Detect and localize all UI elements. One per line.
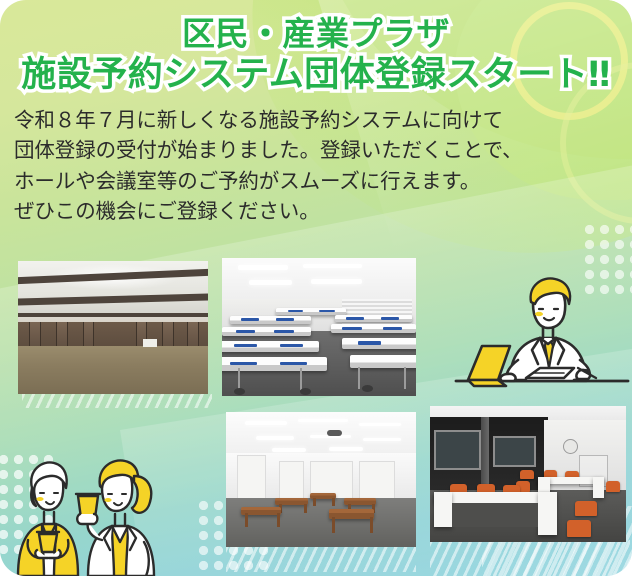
photo-training-room	[222, 258, 416, 396]
body-line-1: 令和８年７月に新しくなる施設予約システムに向けて	[14, 105, 632, 135]
hatch-stripes-under-photo3	[226, 546, 416, 572]
illustration-businessman-laptop	[452, 268, 632, 400]
body-line-4: ぜひこの機会にご登録ください。	[14, 196, 632, 226]
photo-large-hall	[18, 261, 208, 394]
headline-block: 区民・産業プラザ 施設予約システム団体登録スタート‼	[0, 0, 632, 95]
photo-multipurpose-room	[226, 412, 416, 547]
headline-line-1: 区民・産業プラザ	[0, 16, 632, 53]
promotional-banner: 区民・産業プラザ 施設予約システム団体登録スタート‼ 令和８年７月に新しくなる施…	[0, 0, 632, 576]
body-line-3: ホールや会議室等のご予約がスムーズに行えます。	[14, 166, 632, 196]
photo-conference-room	[430, 406, 626, 542]
hatch-stripes-under-photo1	[22, 394, 212, 408]
illustration-two-women-coffee	[4, 448, 172, 576]
body-copy-block: 令和８年７月に新しくなる施設予約システムに向けて 団体登録の受付が始まりました。…	[14, 105, 632, 226]
headline-line-2: 施設予約システム団体登録スタート‼	[0, 56, 632, 95]
body-line-2: 団体登録の受付が始まりました。登録いただくことで、	[14, 135, 632, 165]
